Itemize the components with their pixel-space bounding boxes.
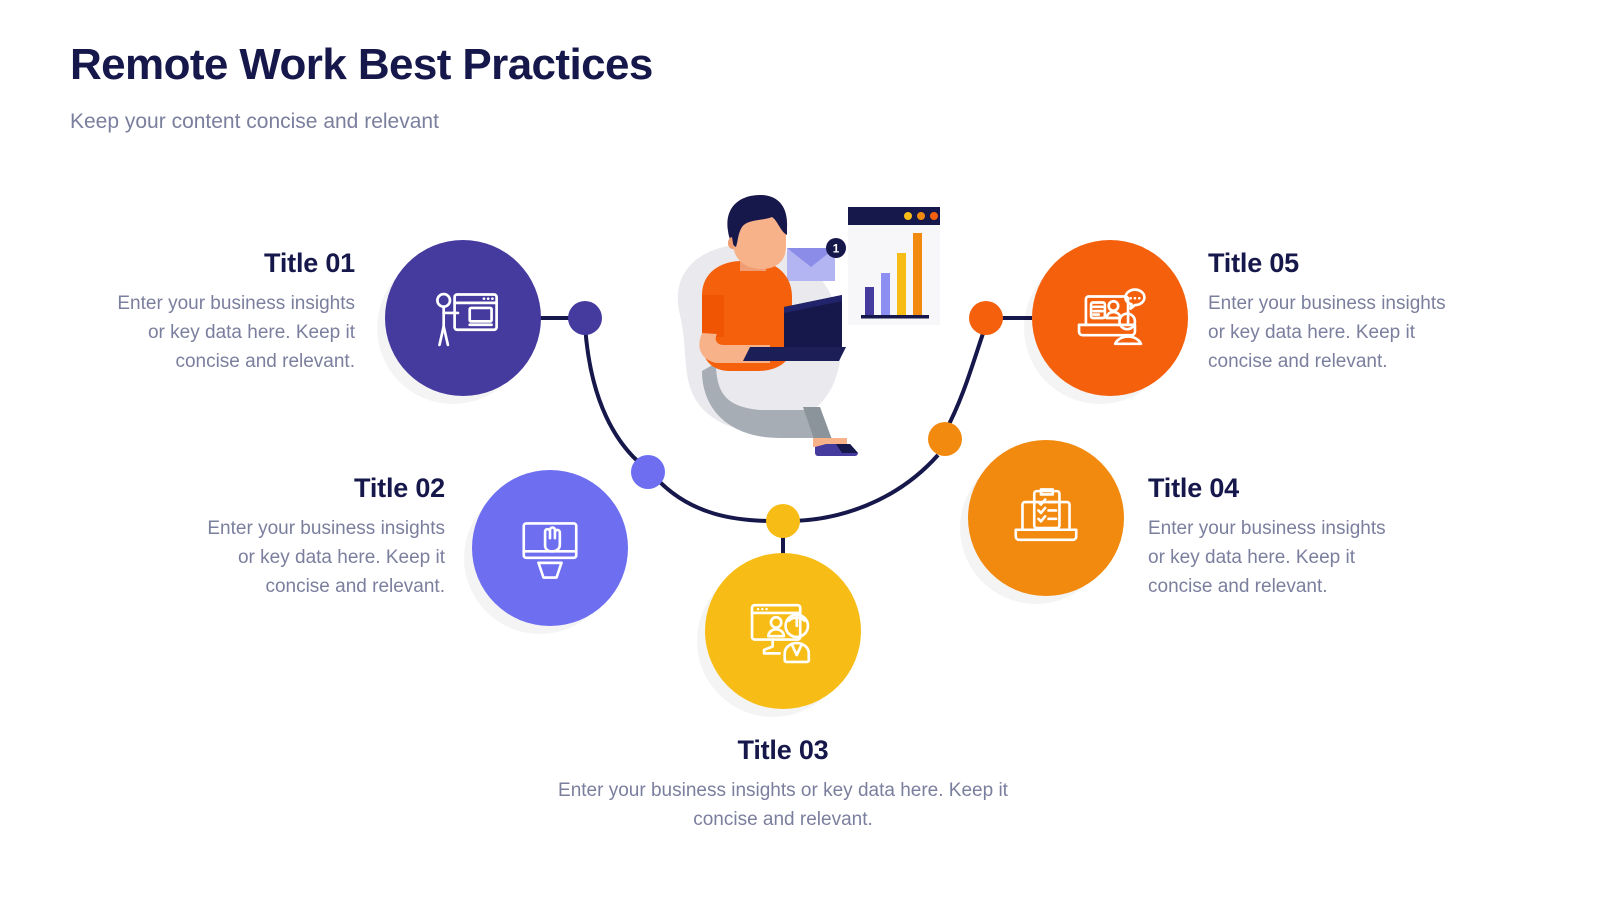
connector-node-1	[568, 301, 602, 335]
step-description-4: Enter your business insights or key data…	[1148, 514, 1393, 601]
mail-badge-count: 1	[833, 242, 840, 256]
window-dot-3	[930, 212, 938, 220]
step-circle-2[interactable]	[472, 470, 628, 626]
step-description-2: Enter your business insights or key data…	[200, 514, 445, 601]
step-text-2: Title 02 Enter your business insights or…	[200, 473, 445, 601]
chart-window	[848, 207, 940, 325]
monitor-click-hand-icon	[509, 507, 591, 589]
step-title-5: Title 05	[1208, 248, 1453, 279]
chart-axis	[861, 315, 929, 319]
chart-bar-2	[881, 273, 890, 315]
step-description-1: Enter your business insights or key data…	[110, 289, 355, 376]
step-title-4: Title 04	[1148, 473, 1393, 504]
step-circle-1[interactable]	[385, 240, 541, 396]
window-dot-1	[904, 212, 912, 220]
video-conference-icon	[740, 588, 826, 674]
step-description-5: Enter your business insights or key data…	[1208, 289, 1453, 376]
step-title-3: Title 03	[553, 735, 1013, 766]
window-dot-2	[917, 212, 925, 220]
person-shoe	[813, 438, 858, 456]
step-text-1: Title 01 Enter your business insights or…	[110, 248, 355, 376]
chart-bar-1	[865, 287, 874, 315]
step-title-2: Title 02	[200, 473, 445, 504]
laptop-checklist-icon	[1004, 476, 1088, 560]
infographic-canvas: Remote Work Best Practices Keep your con…	[0, 0, 1600, 900]
person-working-on-laptop-illustration: 1	[620, 195, 980, 485]
presenter-whiteboard-icon	[421, 276, 505, 360]
step-circle-4[interactable]	[968, 440, 1124, 596]
step-circle-3[interactable]	[705, 553, 861, 709]
step-title-1: Title 01	[110, 248, 355, 279]
video-call-chat-icon	[1067, 275, 1153, 361]
connector-node-3	[766, 504, 800, 538]
step-description-3: Enter your business insights or key data…	[553, 776, 1013, 834]
step-text-3: Title 03 Enter your business insights or…	[553, 735, 1013, 834]
mail-notification: 1	[787, 238, 846, 281]
step-text-4: Title 04 Enter your business insights or…	[1148, 473, 1393, 601]
chart-bar-3	[897, 253, 906, 315]
step-circle-5[interactable]	[1032, 240, 1188, 396]
chart-bar-4	[913, 233, 922, 315]
person-sleeve	[702, 295, 724, 337]
step-text-5: Title 05 Enter your business insights or…	[1208, 248, 1453, 376]
